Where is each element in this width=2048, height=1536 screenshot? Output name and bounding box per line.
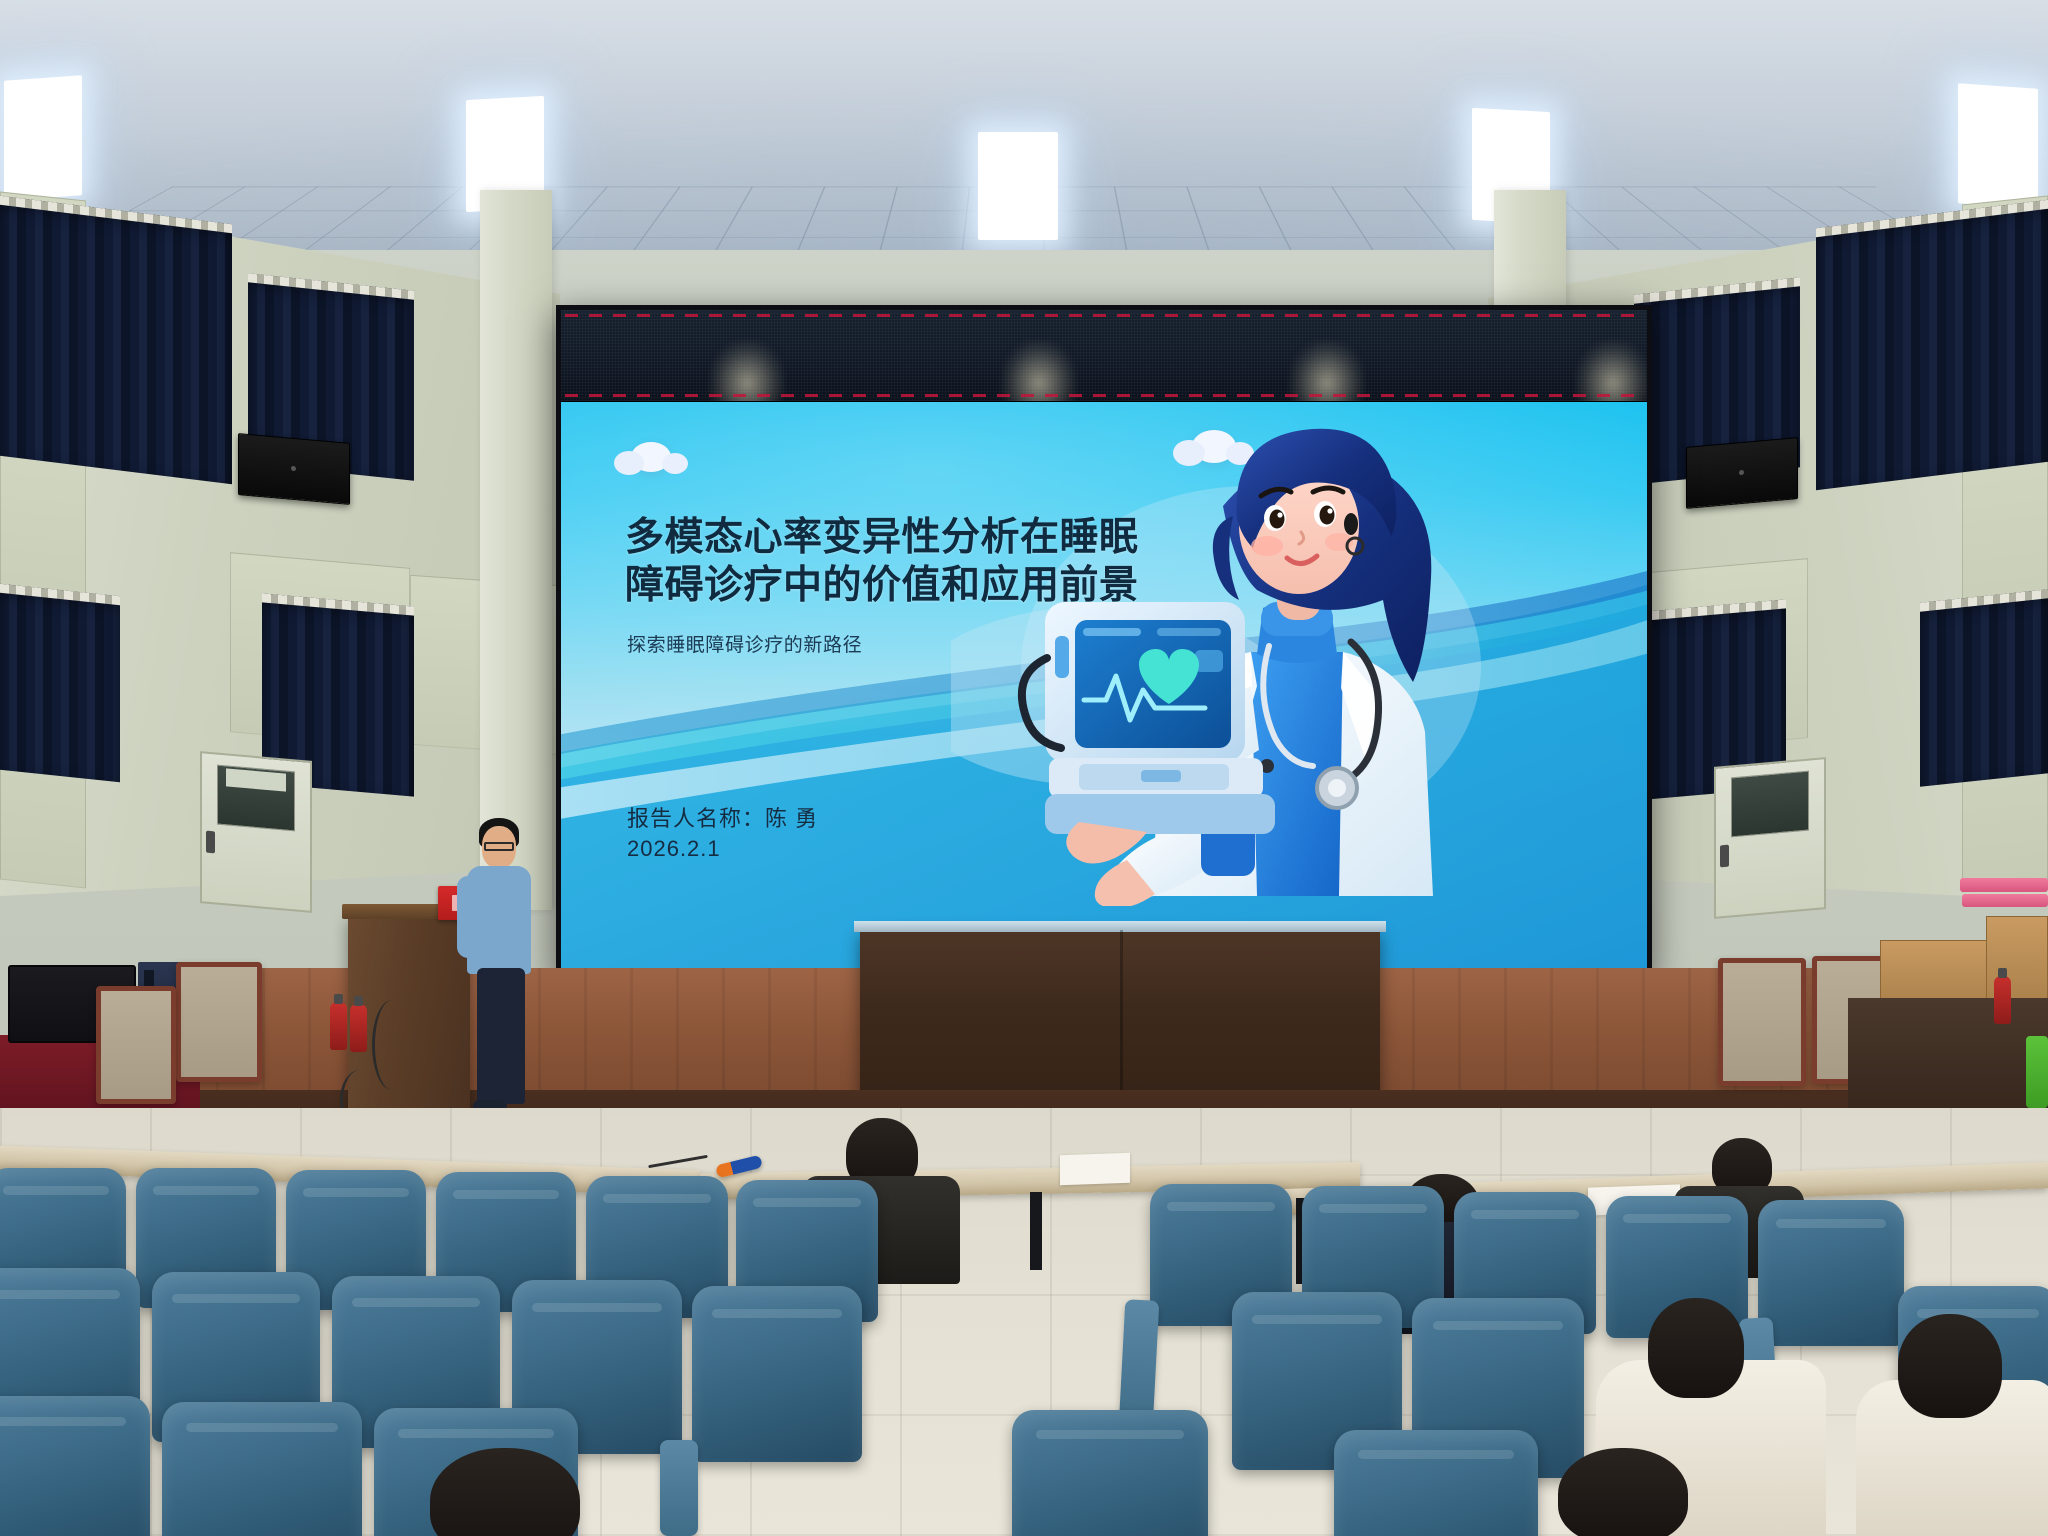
slide-presenter: 报告人名称：陈 勇 — [627, 802, 818, 836]
slide-title-line-1: 多模态心率变异性分析在睡眠 — [625, 514, 1185, 562]
wall-speaker — [1686, 437, 1798, 509]
window-curtain — [1920, 589, 2048, 786]
ceiling-light-panel — [978, 132, 1058, 240]
door-window — [1731, 771, 1809, 837]
window-curtain — [1816, 200, 2048, 490]
wooden-chair[interactable] — [96, 986, 176, 1104]
door-handle[interactable] — [206, 831, 215, 854]
presenter-arm — [457, 876, 479, 958]
led-display-screen[interactable]: 多模态心率变异性分析在睡眠 障碍诊疗中的价值和应用前景 探索睡眠障碍诊疗的新路径… — [556, 305, 1652, 980]
wooden-chair[interactable] — [176, 962, 262, 1082]
slide-title: 多模态心率变异性分析在睡眠 障碍诊疗中的价值和应用前景 — [625, 514, 1185, 611]
auditorium-seat[interactable] — [0, 1396, 150, 1536]
auditorium-seat[interactable] — [162, 1402, 362, 1536]
auditorium-seat[interactable] — [692, 1286, 862, 1462]
auditorium-seat[interactable] — [1012, 1410, 1208, 1536]
slide-title-line-2: 障碍诊疗中的价值和应用前景 — [625, 562, 1185, 610]
led-banner-reflection — [1575, 340, 1647, 402]
door-left — [200, 751, 312, 913]
doctor-illustration — [951, 402, 1511, 906]
slide-date: 2026.2.1 — [627, 836, 721, 862]
led-banner-reflection — [709, 340, 785, 402]
cloud-icon — [631, 442, 671, 472]
conference-hall-scene: 多模态心率变异性分析在睡眠 障碍诊疗中的价值和应用前景 探索睡眠障碍诊疗的新路径… — [0, 0, 2048, 1536]
led-scrolling-banner — [561, 310, 1647, 402]
presenter-trousers — [477, 968, 525, 1104]
wall-speaker — [238, 433, 350, 505]
led-banner-reflection — [1289, 340, 1365, 402]
presenter-person — [455, 818, 545, 1118]
seat-armrest — [660, 1440, 698, 1536]
presentation-slide: 多模态心率变异性分析在睡眠 障碍诊疗中的价值和应用前景 探索睡眠障碍诊疗的新路径… — [561, 402, 1647, 975]
wooden-chair[interactable] — [1718, 958, 1806, 1086]
auditorium-seat[interactable] — [1758, 1200, 1904, 1346]
window-curtain — [0, 584, 120, 783]
pillar-left — [480, 190, 552, 910]
podium-cable — [372, 1000, 412, 1090]
auditorium-seat[interactable] — [1334, 1430, 1538, 1536]
fire-extinguisher-icon — [350, 1004, 367, 1052]
led-banner-reflection — [1001, 340, 1077, 402]
pink-storage-lid — [1962, 894, 2048, 907]
pink-storage-lid — [1960, 878, 2048, 892]
audience-head — [1648, 1298, 1744, 1398]
fire-extinguisher-icon — [1994, 976, 2011, 1024]
green-container — [2026, 1036, 2048, 1108]
audience-head — [1898, 1314, 2002, 1418]
ceiling-light-panel — [4, 75, 82, 200]
ceiling-light-panel — [1958, 83, 2038, 209]
fire-extinguisher-icon — [330, 1002, 347, 1050]
door-handle[interactable] — [1720, 845, 1729, 868]
audience-head — [1558, 1448, 1688, 1536]
paper-sheet — [1060, 1153, 1130, 1185]
presenter-glasses — [484, 842, 514, 851]
table-leg — [1030, 1192, 1042, 1270]
window-curtain — [0, 196, 232, 484]
door-right — [1714, 757, 1826, 919]
slide-subtitle: 探索睡眠障碍诊疗的新路径 — [627, 630, 862, 657]
